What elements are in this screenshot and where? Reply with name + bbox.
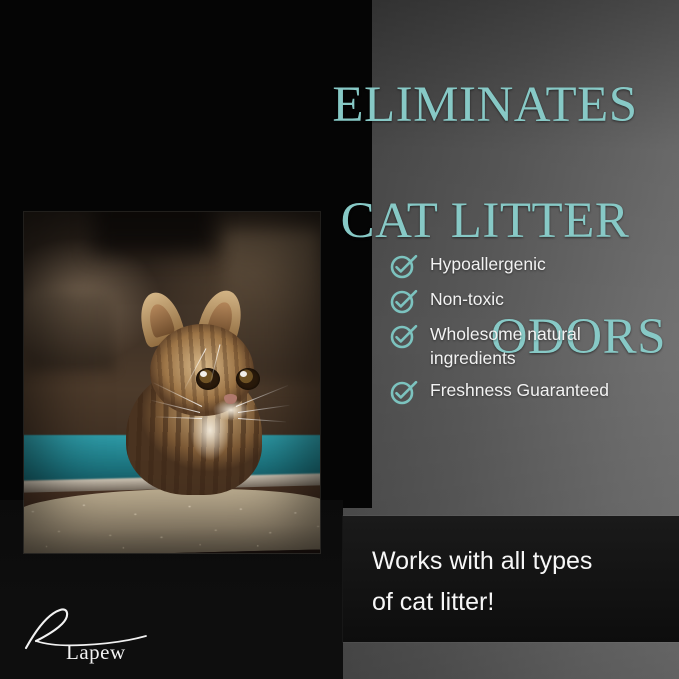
brand-logo: Lapew xyxy=(22,604,162,666)
check-circle-icon xyxy=(390,288,418,314)
tagline-panel: Works with all types of cat litter! xyxy=(343,516,679,642)
list-item: Non-toxic xyxy=(390,287,670,314)
benefit-label: Non-toxic xyxy=(430,287,504,311)
benefits-list: Hypoallergenic Non-toxic Wholesome natur… xyxy=(390,252,670,413)
tagline-line-1: Works with all types xyxy=(372,541,662,582)
tagline-text: Works with all types of cat litter! xyxy=(372,541,662,623)
product-ad-image: ELIMINATES CAT LITTER ODORS xyxy=(0,0,679,679)
benefit-label: Wholesome natural ingredients xyxy=(430,322,670,370)
benefit-label: Hypoallergenic xyxy=(430,252,546,276)
headline-line-2: CAT LITTER xyxy=(300,192,670,250)
kitten-eye-right xyxy=(236,368,260,390)
kitten xyxy=(120,280,270,495)
headline-line-1: ELIMINATES xyxy=(300,76,670,134)
tagline-line-2: of cat litter! xyxy=(372,582,662,623)
kitten-head xyxy=(150,324,254,416)
photo-blur-shelf xyxy=(26,292,114,370)
check-circle-icon xyxy=(390,323,418,349)
litter-box-body xyxy=(24,485,320,553)
product-photo xyxy=(24,212,320,553)
photo-dark-top xyxy=(94,212,214,252)
cat-litter-pellets xyxy=(24,485,320,553)
brand-name: Lapew xyxy=(66,640,126,665)
list-item: Hypoallergenic xyxy=(390,252,670,279)
benefit-label: Freshness Guaranteed xyxy=(430,378,609,402)
list-item: Freshness Guaranteed xyxy=(390,378,670,405)
check-circle-icon xyxy=(390,253,418,279)
check-circle-icon xyxy=(390,379,418,405)
kitten-eye-left xyxy=(196,368,220,390)
list-item: Wholesome natural ingredients xyxy=(390,322,670,370)
